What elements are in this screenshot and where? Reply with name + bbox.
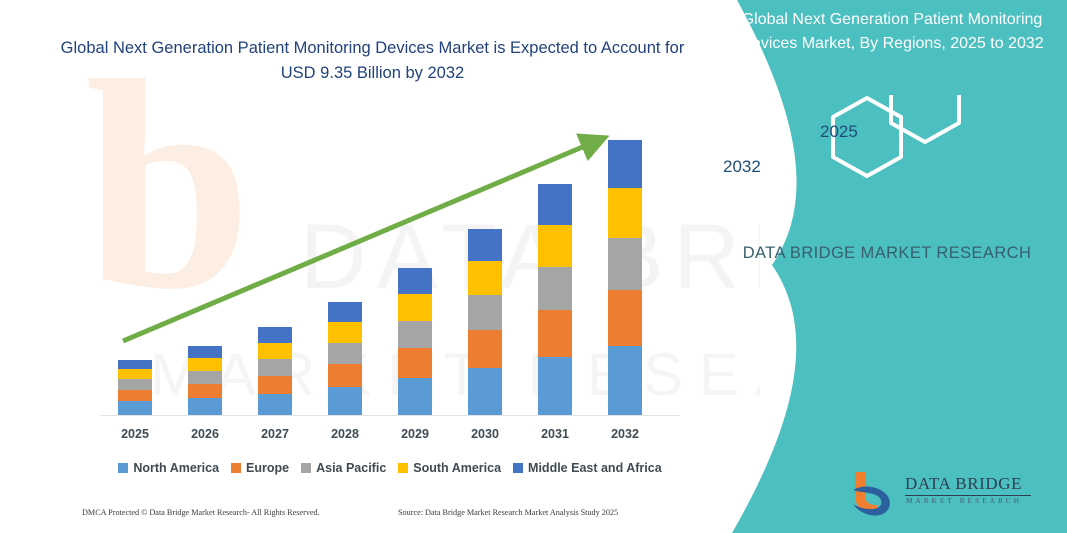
legend-item-europe[interactable]: Europe — [231, 461, 289, 475]
bar-2029 — [398, 268, 432, 415]
legend-swatch-icon — [118, 463, 128, 473]
bar-segment — [118, 360, 152, 370]
bar-segment — [258, 394, 292, 415]
data-bridge-logo: DATA BRIDGE MARKET RESEARCH — [847, 470, 1047, 522]
logo-mark-icon — [847, 470, 903, 520]
hexagon-pair-icon — [787, 95, 1017, 215]
bar-segment — [118, 369, 152, 379]
bar-segment — [398, 378, 432, 415]
panel-watermark: b — [677, 120, 769, 338]
bar-2028 — [328, 302, 362, 415]
bar-segment — [188, 384, 222, 398]
bar-segment — [398, 321, 432, 349]
bar-2025 — [118, 360, 152, 415]
chart-pane: b DATA BRIDGE MARKET RESEARCH Global Nex… — [0, 0, 760, 533]
bar-segment — [118, 379, 152, 390]
bar-segment — [188, 346, 222, 358]
teal-side-panel: b Global Next Generation Patient Monitor… — [677, 0, 1067, 533]
legend-swatch-icon — [398, 463, 408, 473]
bar-segment — [258, 327, 292, 343]
bar-segment — [328, 387, 362, 415]
bar-2031 — [538, 184, 572, 415]
bar-segment — [468, 261, 502, 295]
bar-segment — [468, 368, 502, 415]
stacked-bar-chart: 20252026202720282029203020312032 — [0, 0, 760, 533]
legend-label: South America — [413, 461, 501, 475]
bar-segment — [398, 348, 432, 378]
bar-segment — [608, 238, 642, 290]
logo-subtitle: MARKET RESEARCH — [906, 497, 1022, 505]
infographic-canvas: b DATA BRIDGE MARKET RESEARCH Global Nex… — [0, 0, 1067, 533]
bar-segment — [258, 376, 292, 394]
bar-segment — [258, 359, 292, 376]
legend-swatch-icon — [231, 463, 241, 473]
hexagon-label-2032: 2032 — [723, 157, 761, 177]
x-tick-2030: 2030 — [450, 427, 520, 441]
bar-2026 — [188, 346, 222, 415]
bar-segment — [328, 343, 362, 365]
bar-segment — [328, 322, 362, 343]
bar-segment — [608, 290, 642, 346]
bar-segment — [538, 310, 572, 357]
legend-label: North America — [133, 461, 219, 475]
bar-segment — [468, 330, 502, 368]
legend-label: Asia Pacific — [316, 461, 386, 475]
x-tick-2029: 2029 — [380, 427, 450, 441]
panel-heading: Global Next Generation Patient Monitorin… — [737, 8, 1047, 56]
x-tick-2025: 2025 — [100, 427, 170, 441]
bar-segment — [328, 364, 362, 387]
bar-segment — [258, 343, 292, 359]
footer-copyright: DMCA Protected © Data Bridge Market Rese… — [82, 508, 320, 517]
bar-segment — [188, 358, 222, 371]
bar-segment — [538, 225, 572, 267]
x-tick-2026: 2026 — [170, 427, 240, 441]
legend-item-asia-pacific[interactable]: Asia Pacific — [301, 461, 386, 475]
x-axis-line — [100, 415, 680, 416]
hexagon-label-2025: 2025 — [820, 122, 858, 142]
brand-name: DATA BRIDGE MARKET RESEARCH — [722, 240, 1052, 267]
bar-segment — [398, 294, 432, 321]
chart-legend: North AmericaEuropeAsia PacificSouth Ame… — [100, 461, 680, 475]
legend-item-middle-east-and-africa[interactable]: Middle East and Africa — [513, 461, 662, 475]
bar-2032 — [608, 140, 642, 415]
bar-2030 — [468, 229, 502, 415]
legend-swatch-icon — [301, 463, 311, 473]
x-tick-2027: 2027 — [240, 427, 310, 441]
bar-segment — [608, 188, 642, 238]
bar-segment — [468, 229, 502, 262]
x-tick-2032: 2032 — [590, 427, 660, 441]
bar-segment — [398, 268, 432, 294]
footer-source: Source: Data Bridge Market Research Mark… — [398, 508, 618, 517]
panel-content: b Global Next Generation Patient Monitor… — [677, 0, 1067, 533]
bar-segment — [328, 302, 362, 322]
bar-segment — [118, 401, 152, 415]
x-tick-2028: 2028 — [310, 427, 380, 441]
trend-arrow-icon — [0, 0, 760, 533]
x-tick-2031: 2031 — [520, 427, 590, 441]
bar-segment — [118, 390, 152, 401]
bar-2027 — [258, 327, 292, 415]
logo-title: DATA BRIDGE — [905, 474, 1022, 494]
bar-segment — [538, 357, 572, 415]
legend-label: Middle East and Africa — [528, 461, 662, 475]
legend-item-north-america[interactable]: North America — [118, 461, 219, 475]
bar-segment — [468, 295, 502, 330]
bar-segment — [608, 346, 642, 415]
legend-label: Europe — [246, 461, 289, 475]
bar-segment — [188, 398, 222, 415]
legend-item-south-america[interactable]: South America — [398, 461, 501, 475]
bar-segment — [538, 184, 572, 224]
legend-swatch-icon — [513, 463, 523, 473]
logo-divider — [905, 495, 1031, 496]
bar-segment — [538, 267, 572, 311]
bar-segment — [188, 371, 222, 384]
bar-segment — [608, 140, 642, 188]
